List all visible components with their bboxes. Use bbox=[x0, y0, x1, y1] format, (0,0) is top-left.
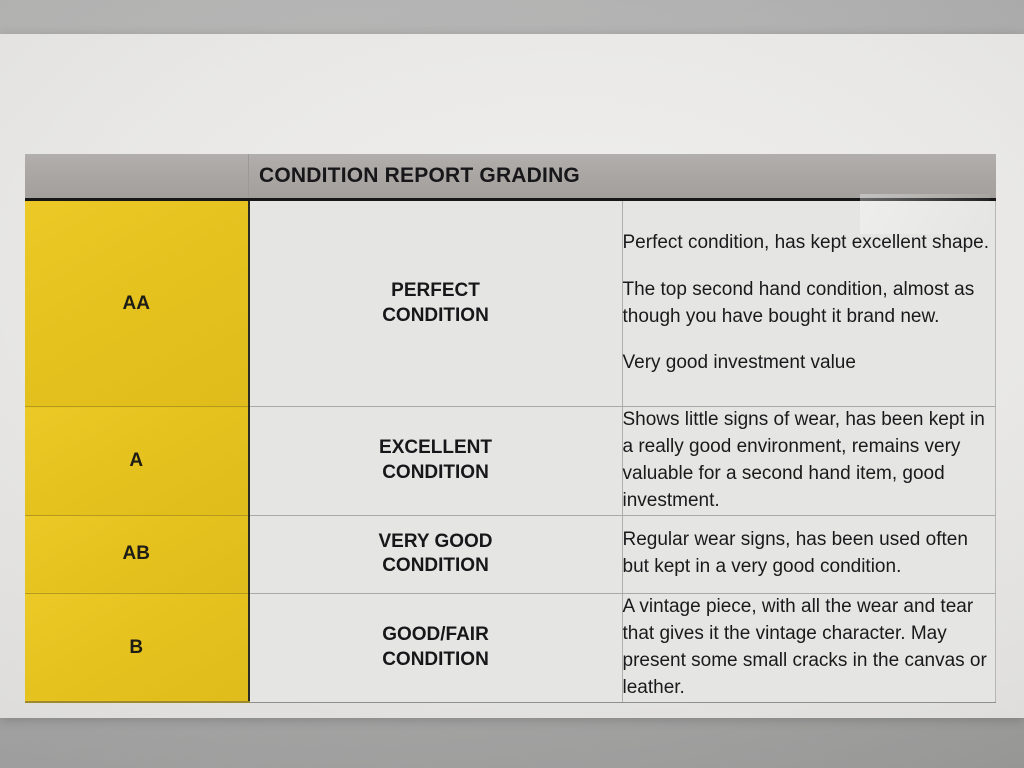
table-row[interactable]: AA PERFECT CONDITION Perfect condition, … bbox=[25, 200, 996, 407]
condition-line-2: CONDITION bbox=[250, 461, 622, 486]
description-cell-b: A vintage piece, with all the wear and t… bbox=[622, 593, 996, 702]
table-row[interactable]: AB VERY GOOD CONDITION Regular wear sign… bbox=[25, 515, 996, 593]
table-row[interactable]: B GOOD/FAIR CONDITION A vintage piece, w… bbox=[25, 593, 996, 702]
condition-report-grading-table: CONDITION REPORT GRADING AA PERFECT COND… bbox=[25, 154, 996, 703]
table-header-row: CONDITION REPORT GRADING bbox=[25, 154, 996, 200]
condition-line-1: GOOD/FAIR bbox=[250, 623, 622, 648]
grade-cell-ab: AB bbox=[25, 515, 249, 593]
description-cell-aa: Perfect condition, has kept excellent sh… bbox=[622, 200, 996, 407]
description-cell-a: Shows little signs of wear, has been kep… bbox=[622, 407, 996, 516]
paper-sheet: CONDITION REPORT GRADING AA PERFECT COND… bbox=[0, 34, 1024, 718]
description-paragraph: Perfect condition, has kept excellent sh… bbox=[623, 230, 996, 257]
table-body: AA PERFECT CONDITION Perfect condition, … bbox=[25, 200, 996, 703]
grade-cell-aa: AA bbox=[25, 200, 249, 407]
description-paragraph: The top second hand condition, almost as… bbox=[623, 277, 996, 331]
table-row[interactable]: A EXCELLENT CONDITION Shows little signs… bbox=[25, 407, 996, 516]
description-cell-ab: Regular wear signs, has been used often … bbox=[622, 515, 996, 593]
condition-cell-ab: VERY GOOD CONDITION bbox=[249, 515, 623, 593]
condition-line-1: PERFECT bbox=[250, 279, 622, 304]
description-paragraph: Shows little signs of wear, has been kep… bbox=[623, 407, 996, 515]
condition-line-2: CONDITION bbox=[250, 304, 622, 329]
condition-cell-aa: PERFECT CONDITION bbox=[249, 200, 623, 407]
header-grade-column bbox=[25, 154, 249, 200]
grade-cell-b: B bbox=[25, 593, 249, 702]
page-title: CONDITION REPORT GRADING bbox=[249, 164, 580, 187]
condition-cell-b: GOOD/FAIR CONDITION bbox=[249, 593, 623, 702]
condition-line-2: CONDITION bbox=[250, 554, 622, 579]
description-paragraph: Very good investment value bbox=[623, 350, 996, 377]
description-paragraph: A vintage piece, with all the wear and t… bbox=[623, 594, 996, 702]
grade-cell-a: A bbox=[25, 407, 249, 516]
header-title-cell: CONDITION REPORT GRADING bbox=[249, 154, 996, 200]
condition-line-1: EXCELLENT bbox=[250, 436, 622, 461]
condition-cell-a: EXCELLENT CONDITION bbox=[249, 407, 623, 516]
condition-line-2: CONDITION bbox=[250, 648, 622, 673]
condition-line-1: VERY GOOD bbox=[250, 530, 622, 555]
description-paragraph: Regular wear signs, has been used often … bbox=[623, 527, 996, 581]
